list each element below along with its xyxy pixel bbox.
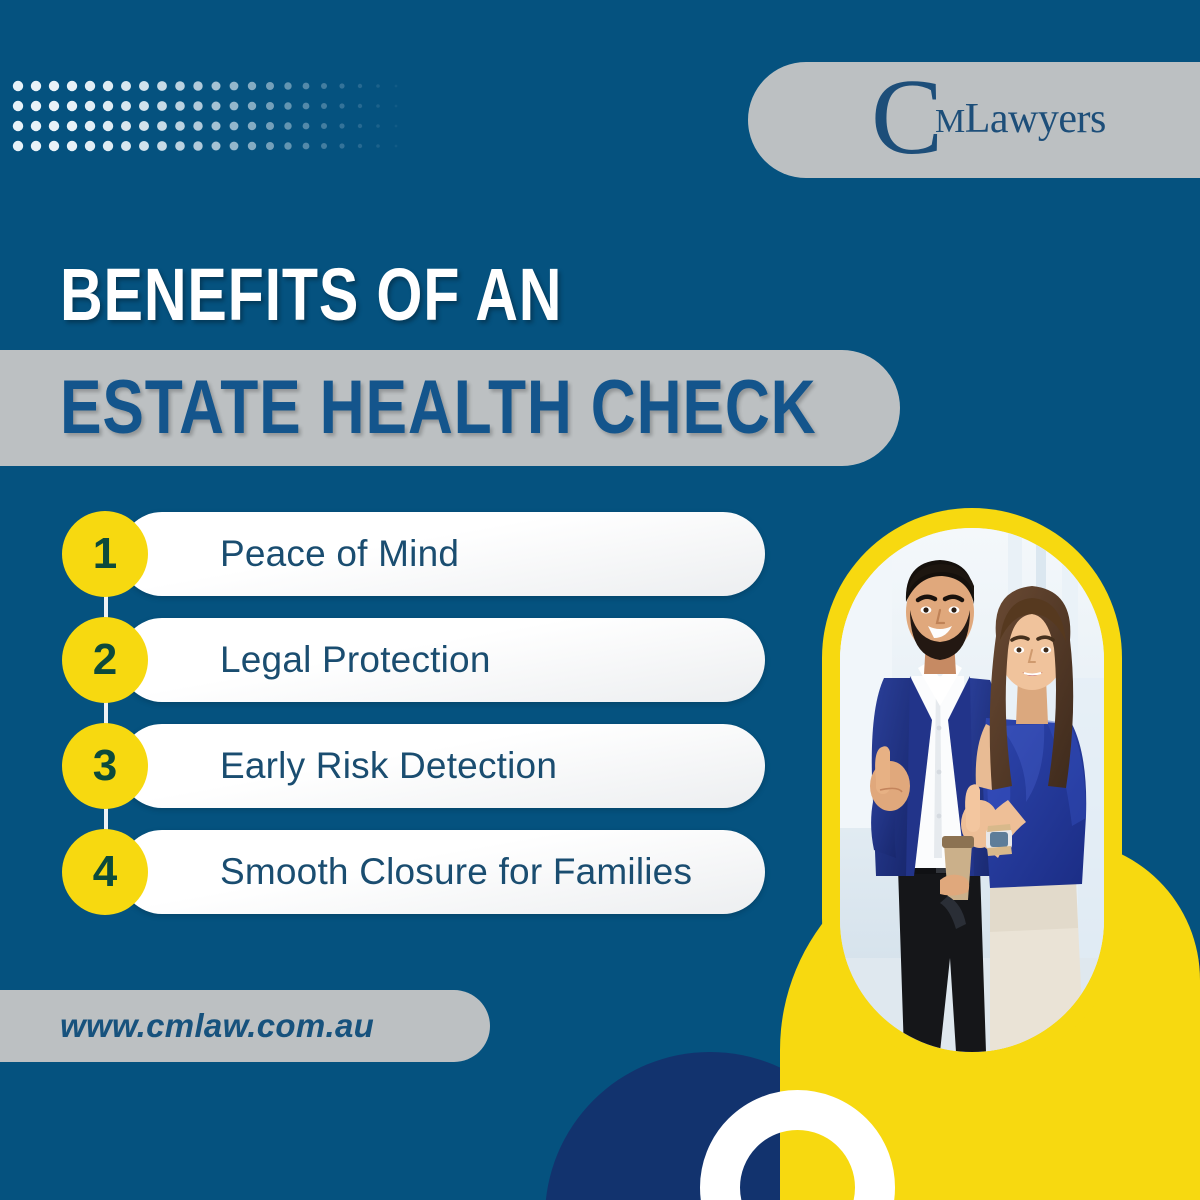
- benefit-number: 3: [93, 744, 117, 788]
- website-pill[interactable]: www.cmlaw.com.au: [0, 990, 490, 1062]
- benefit-label: Legal Protection: [220, 639, 491, 681]
- benefit-number: 2: [93, 638, 117, 682]
- poster-canvas: C MLawyers BENEFITS OF AN ESTATE HEALTH …: [0, 0, 1200, 1200]
- logo-c-mark: C: [871, 64, 943, 172]
- list-item[interactable]: Peace of Mind 1: [62, 512, 772, 596]
- benefit-pill[interactable]: Legal Protection: [120, 618, 765, 702]
- benefit-pill[interactable]: Smooth Closure for Families: [120, 830, 765, 914]
- benefit-number: 4: [93, 850, 117, 894]
- logo-lawyers-text: Lawyers: [965, 96, 1106, 142]
- benefit-pill[interactable]: Early Risk Detection: [120, 724, 765, 808]
- benefit-number-badge: 4: [62, 829, 148, 915]
- benefits-list: Peace of Mind 1 Legal Protection 2 Early…: [62, 512, 772, 936]
- benefit-label: Peace of Mind: [220, 533, 459, 575]
- logo-m-letter: M: [935, 103, 965, 140]
- brand-logo-pill[interactable]: C MLawyers: [748, 62, 1200, 178]
- benefit-pill[interactable]: Peace of Mind: [120, 512, 765, 596]
- dot-grid-icon: [10, 78, 410, 168]
- team-photo: [840, 528, 1104, 1052]
- list-item[interactable]: Early Risk Detection 3: [62, 724, 772, 808]
- benefit-number-badge: 2: [62, 617, 148, 703]
- website-url: www.cmlaw.com.au: [60, 1007, 374, 1045]
- benefit-label: Smooth Closure for Families: [220, 851, 692, 893]
- headline-line-1: BENEFITS OF AN: [60, 258, 562, 332]
- benefit-number-badge: 3: [62, 723, 148, 809]
- logo-lockup: C MLawyers: [853, 74, 1103, 166]
- benefit-number-badge: 1: [62, 511, 148, 597]
- headline-line-2: ESTATE HEALTH CHECK: [60, 370, 816, 446]
- benefit-number: 1: [93, 532, 117, 576]
- list-item[interactable]: Smooth Closure for Families 4: [62, 830, 772, 914]
- logo-wordmark: MLawyers: [935, 98, 1106, 140]
- benefit-label: Early Risk Detection: [220, 745, 557, 787]
- list-item[interactable]: Legal Protection 2: [62, 618, 772, 702]
